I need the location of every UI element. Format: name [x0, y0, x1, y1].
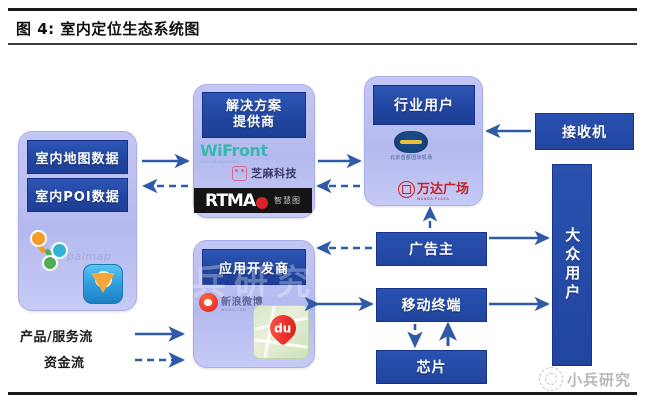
- airport-logo: 北京首都国际机场: [390, 131, 432, 161]
- airport-mark-icon: [394, 131, 428, 153]
- baidu-pin-label: du: [274, 321, 291, 335]
- figure-root: 图 4: 室内定位生态系统图 室内地图数据 室内POI数据 palmap 解决方…: [0, 0, 645, 405]
- airport-label: 北京首都国际机场: [390, 154, 432, 161]
- rtmap-logo: RTMA 智慧图: [194, 188, 312, 213]
- wifront-label: WiFront: [200, 141, 267, 160]
- wanda-logo: 万达广场 WANDA PLAZA: [398, 178, 469, 201]
- node-solution-provider[interactable]: 解决方案 提供商: [202, 92, 306, 138]
- zhima-label: 芝麻科技: [251, 165, 297, 181]
- wifront-logo: WiFront INDOOR LOCATION: [200, 141, 267, 164]
- wifront-sublabel: INDOOR LOCATION: [200, 160, 239, 164]
- top-rule: [8, 8, 637, 11]
- wanda-mark-icon: [398, 181, 415, 198]
- weibo-mark-icon: [199, 293, 218, 312]
- watermark-corner: 小兵研究: [539, 367, 631, 391]
- palmap-label: palmap: [67, 250, 111, 263]
- node-public-user[interactable]: 大众用户: [552, 164, 592, 366]
- wanda-label: 万达广场: [417, 178, 469, 197]
- node-chip[interactable]: 芯片: [376, 350, 487, 384]
- solution-provider-line-1: 解决方案: [226, 99, 282, 115]
- zhima-logo: 芝麻科技: [232, 165, 297, 181]
- rtmap-dot-icon: [256, 197, 268, 209]
- legend-capital-flow-label: 资金流: [44, 352, 85, 371]
- watermark-corner-label: 小兵研究: [567, 369, 631, 390]
- solution-provider-line-2: 提供商: [233, 115, 275, 131]
- pin-orange-icon: [30, 230, 47, 247]
- pin-green-icon: [42, 255, 58, 271]
- zhima-mark-icon: [232, 166, 247, 181]
- node-industry-user[interactable]: 行业用户: [373, 85, 475, 125]
- legend-product-flow-label: 产品/服务流: [20, 326, 93, 345]
- rtmap-cn-label: 智慧图: [274, 195, 301, 206]
- map-app-icon: [83, 264, 123, 304]
- baidu-map-logo: du: [253, 305, 309, 359]
- bottom-rule: [8, 392, 637, 395]
- node-indoor-map-data[interactable]: 室内地图数据: [27, 140, 128, 174]
- node-mobile-terminal[interactable]: 移动终端: [376, 288, 487, 322]
- rtmap-label: RTMA: [205, 191, 255, 211]
- node-advertiser[interactable]: 广告主: [376, 232, 487, 266]
- figure-title: 图 4: 室内定位生态系统图: [16, 16, 516, 40]
- title-underline-rule: [8, 43, 637, 45]
- watermark-logo-icon: [539, 367, 563, 391]
- node-receiver[interactable]: 接收机: [535, 113, 634, 150]
- node-indoor-poi-data[interactable]: 室内POI数据: [27, 178, 128, 212]
- node-app-developer[interactable]: 应用开发商: [202, 249, 306, 285]
- wanda-sublabel: WANDA PLAZA: [417, 197, 469, 201]
